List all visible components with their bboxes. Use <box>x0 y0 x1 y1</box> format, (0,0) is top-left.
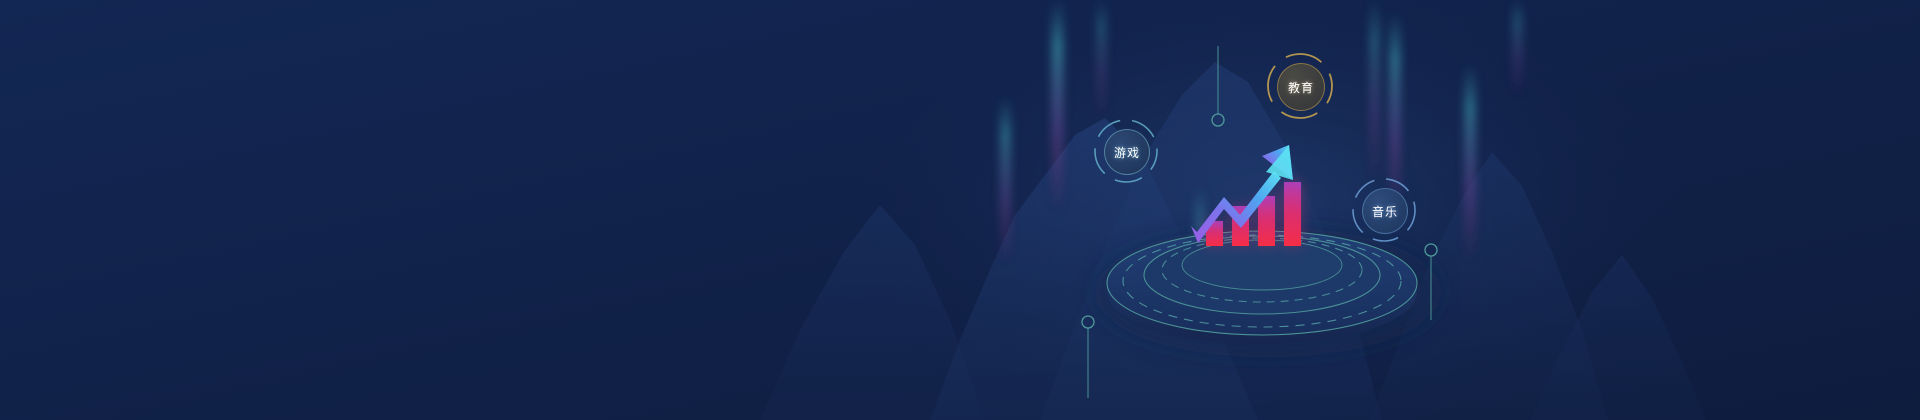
light-streak <box>1372 0 1377 180</box>
light-streak <box>1391 14 1399 214</box>
light-streak <box>1466 65 1474 260</box>
hero-banner: 游戏 教育 音乐 <box>0 0 1920 420</box>
light-streak <box>1002 98 1009 263</box>
light-streak <box>1099 0 1104 120</box>
badge-music-label: 音乐 <box>1372 203 1398 220</box>
disc-face-inner <box>1182 240 1342 290</box>
banner-scene <box>0 0 1920 420</box>
badge-education[interactable]: 教育 <box>1277 63 1325 111</box>
badge-music[interactable]: 音乐 <box>1362 188 1408 234</box>
light-streak <box>1053 0 1062 210</box>
badge-games[interactable]: 游戏 <box>1104 129 1150 175</box>
badge-education-label: 教育 <box>1288 79 1314 96</box>
light-streak <box>1515 0 1520 95</box>
bar-glow <box>1284 182 1301 246</box>
badge-games-label: 游戏 <box>1114 144 1140 161</box>
